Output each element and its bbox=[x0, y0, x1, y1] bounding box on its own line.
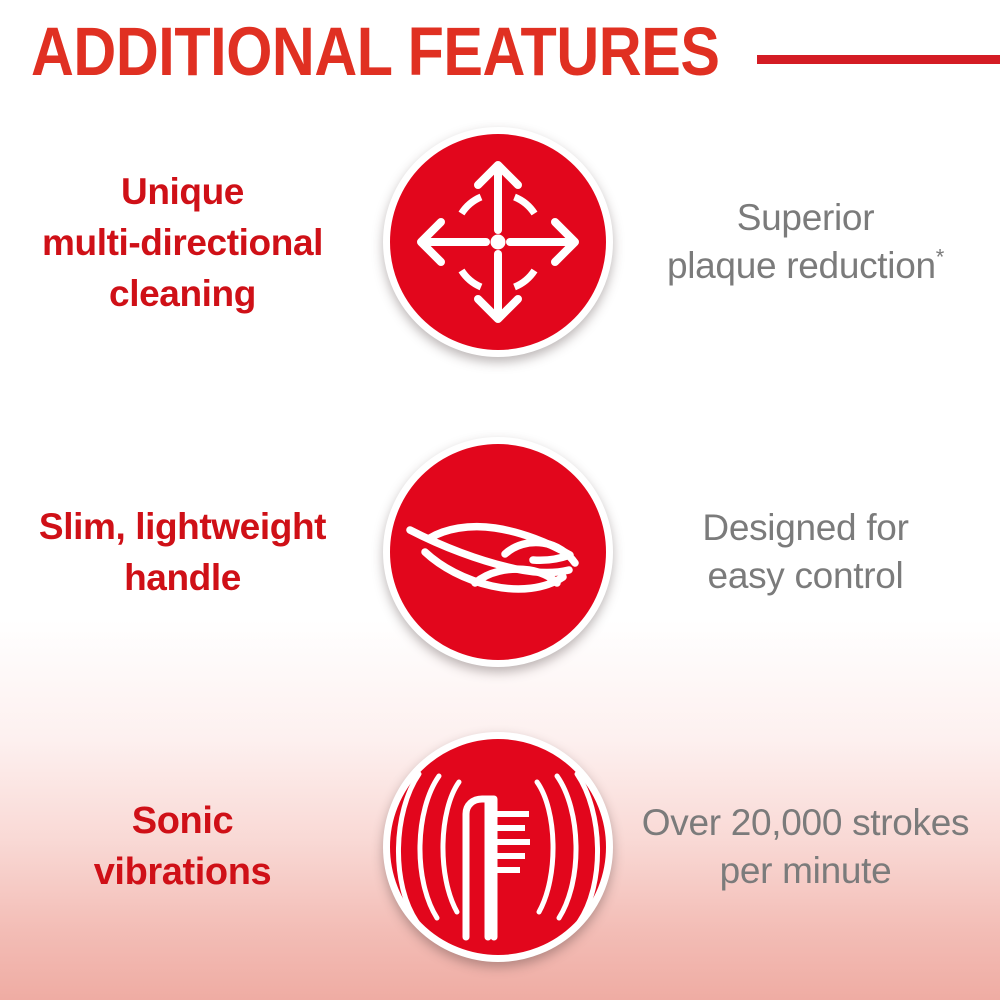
feature-label-line: Sonic bbox=[0, 796, 365, 847]
feature-benefit-line: per minute bbox=[619, 847, 992, 895]
feature-benefit-line: Superior bbox=[619, 194, 992, 242]
feature-benefit-easy-control: Designed for easy control bbox=[613, 504, 1000, 600]
feature-row: Sonic vibrations bbox=[0, 727, 1000, 967]
feather-icon bbox=[383, 437, 613, 667]
feature-benefit-line: Over 20,000 strokes bbox=[619, 799, 992, 847]
feature-row: Unique multi-directional cleaning bbox=[0, 122, 1000, 362]
feature-label-line: multi-directional bbox=[0, 217, 365, 268]
feature-label-line: handle bbox=[0, 552, 365, 603]
feature-label-line: Slim, lightweight bbox=[0, 501, 365, 552]
feature-benefit-text: plaque reduction bbox=[667, 245, 936, 286]
feature-label-multi-directional-cleaning: Unique multi-directional cleaning bbox=[0, 166, 383, 319]
feature-label-sonic-vibrations: Sonic vibrations bbox=[0, 796, 383, 898]
center-dot bbox=[491, 235, 506, 250]
feature-benefit-line: easy control bbox=[619, 552, 992, 600]
header: ADDITIONAL FEATURES bbox=[0, 0, 1000, 110]
feature-icon-badge bbox=[383, 127, 613, 357]
multi-directional-arrows-icon bbox=[383, 127, 613, 357]
vibrating-toothbrush-icon bbox=[383, 732, 613, 962]
feature-benefit-line: Designed for bbox=[619, 504, 992, 552]
brush-head bbox=[466, 799, 494, 937]
feature-icon-badge bbox=[383, 732, 613, 962]
feature-label-line: Unique bbox=[0, 166, 365, 217]
vibration-arcs-left bbox=[398, 774, 459, 922]
feature-icon-badge bbox=[383, 437, 613, 667]
vibration-arcs-right bbox=[537, 774, 598, 922]
header-divider-rule bbox=[757, 55, 1000, 64]
feature-row: Slim, lightweight handle bbox=[0, 432, 1000, 672]
feature-label-slim-lightweight-handle: Slim, lightweight handle bbox=[0, 501, 383, 603]
additional-features-infographic: ADDITIONAL FEATURES Unique multi-directi… bbox=[0, 0, 1000, 1000]
feature-label-line: cleaning bbox=[0, 268, 365, 319]
feature-benefit-line: plaque reduction* bbox=[619, 242, 992, 290]
page-title: ADDITIONAL FEATURES bbox=[31, 17, 720, 86]
feature-label-line: vibrations bbox=[0, 847, 365, 898]
feature-benefit-plaque-reduction: Superior plaque reduction* bbox=[613, 194, 1000, 290]
footnote-marker: * bbox=[936, 245, 944, 270]
feature-benefit-strokes-per-minute: Over 20,000 strokes per minute bbox=[613, 799, 1000, 895]
